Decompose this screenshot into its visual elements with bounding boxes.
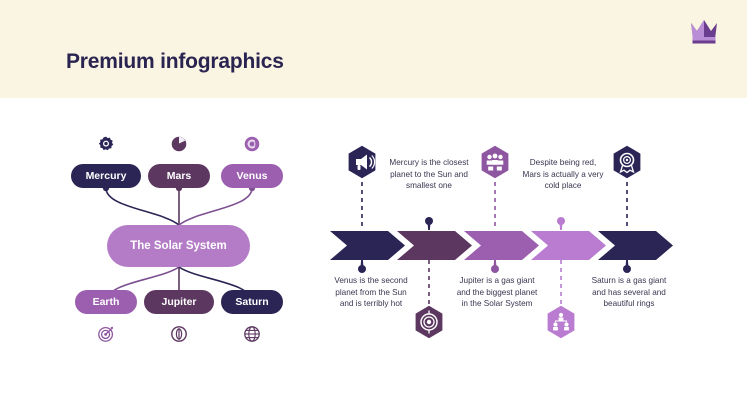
mindmap-node-saturn[interactable]: Saturn bbox=[221, 290, 283, 314]
mindmap-node-venus[interactable]: Venus bbox=[221, 164, 283, 188]
timeline-text-saturn: Saturn is a gas giant and has several an… bbox=[586, 275, 672, 310]
target-ring-icon[interactable] bbox=[414, 305, 444, 339]
mindmap-node-label: Venus bbox=[237, 170, 268, 182]
hierarchy-icon[interactable] bbox=[546, 305, 576, 339]
globe-icon bbox=[244, 326, 260, 342]
timeline-text-mars: Despite being red, Mars is actually a ve… bbox=[520, 157, 606, 192]
timeline-text-jupiter: Jupiter is a gas giant and the biggest p… bbox=[454, 275, 540, 310]
mindmap-node-label: Saturn bbox=[235, 296, 268, 308]
mindmap-node-jupiter[interactable]: Jupiter bbox=[144, 290, 214, 314]
mindmap-center-label: The Solar System bbox=[130, 240, 227, 252]
timeline-diagram: 2xxx 2xxx 2xxx 2xxx 2xxx bbox=[330, 135, 720, 360]
megaphone-icon[interactable] bbox=[347, 145, 377, 179]
slide-canvas: Premium infographics bbox=[0, 0, 747, 420]
timeline-step-label-1: 2xxx bbox=[330, 340, 405, 351]
award-badge-icon[interactable] bbox=[612, 145, 642, 179]
mindmap-node-label: Mercury bbox=[86, 170, 127, 182]
mindmap-node-label: Earth bbox=[93, 296, 120, 308]
crown-icon bbox=[688, 16, 720, 46]
timeline-text-venus: Venus is the second planet from the Sun … bbox=[328, 275, 414, 310]
timeline-step-label-4: 2xxx bbox=[531, 340, 606, 351]
page-title: Premium infographics bbox=[66, 50, 284, 74]
timeline-step-label-2: 2xxx bbox=[397, 340, 472, 351]
timeline-text-mercury: Mercury is the closest planet to the Sun… bbox=[386, 157, 472, 192]
slide-header: Premium infographics bbox=[0, 0, 747, 98]
mindmap-node-earth[interactable]: Earth bbox=[75, 290, 137, 314]
target-icon bbox=[98, 326, 114, 342]
pie-chart-icon bbox=[171, 136, 187, 152]
group-people-icon[interactable] bbox=[480, 145, 510, 179]
mindmap-center-node[interactable]: The Solar System bbox=[107, 225, 250, 267]
mindmap-node-label: Jupiter bbox=[161, 296, 196, 308]
mindmap-node-label: Mars bbox=[167, 170, 192, 182]
timeline-step-label-5: 2xxx bbox=[598, 340, 673, 351]
mindmap-node-mars[interactable]: Mars bbox=[148, 164, 210, 188]
coin-icon bbox=[171, 326, 187, 342]
gear-icon bbox=[98, 136, 114, 152]
mindmap-diagram: Mercury Mars Venus The Solar System Eart… bbox=[60, 130, 315, 360]
mindmap-node-mercury[interactable]: Mercury bbox=[71, 164, 141, 188]
timeline-step-label-3: 2xxx bbox=[464, 340, 539, 351]
ring-icon bbox=[244, 136, 260, 152]
